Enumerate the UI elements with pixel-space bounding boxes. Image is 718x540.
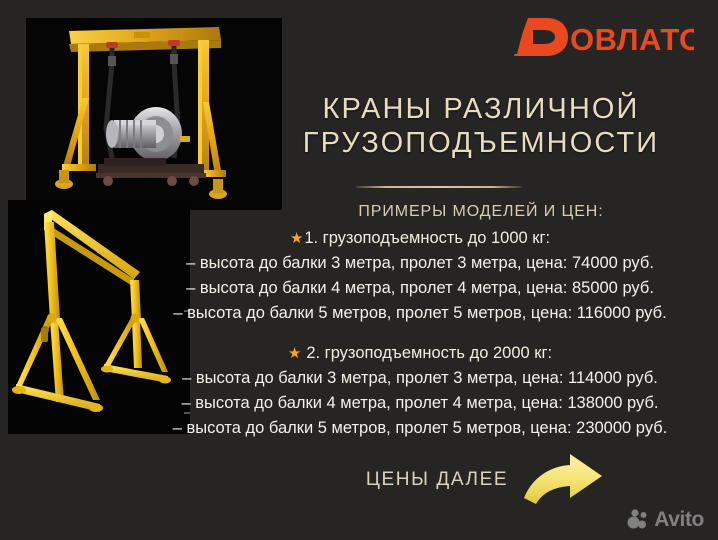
price-group-title: ★1. грузоподъемность до 1000 кг:	[130, 226, 710, 251]
brand-logo[interactable]: ОВЛАТОР Довлатор	[508, 16, 694, 58]
price-group: ★1. грузоподъемность до 1000 кг: – высот…	[130, 226, 710, 326]
headline-line-2: ГРУЗОПОДЪЕМНОСТИ	[262, 126, 700, 160]
avito-watermark: Avito	[627, 508, 704, 530]
star-icon: ★	[290, 230, 303, 247]
price-group-title: ★2. грузоподъемность до 2000 кг:	[130, 341, 710, 366]
avito-dots-icon	[627, 508, 649, 530]
price-line: – высота до балки 5 метров, пролет 5 мет…	[130, 301, 710, 326]
cta-block: ЦЕНЫ ДАЛЕЕ	[330, 452, 640, 508]
price-line: – высота до балки 4 метра, пролет 4 метр…	[130, 391, 710, 416]
star-icon: ★	[288, 345, 301, 362]
avito-label: Avito	[654, 509, 704, 530]
dovlator-logo-icon: ОВЛАТОР	[508, 16, 694, 58]
gantry-crane-with-load-photo	[26, 18, 282, 210]
price-line: – высота до балки 3 метра, пролет 3 метр…	[130, 251, 710, 276]
cta-label: ЦЕНЫ ДАЛЕЕ	[366, 469, 508, 491]
svg-text:ОВЛАТОР: ОВЛАТОР	[570, 22, 694, 57]
price-line: – высота до балки 5 метров, пролет 5 мет…	[130, 416, 710, 441]
headline-line-1: КРАНЫ РАЗЛИЧНОЙ	[262, 92, 700, 126]
subtitle: ПРИМЕРЫ МОДЕЛЕЙ И ЦЕН:	[262, 203, 700, 221]
page-title: КРАНЫ РАЗЛИЧНОЙ ГРУЗОПОДЪЕМНОСТИ	[262, 92, 700, 160]
price-line: – высота до балки 4 метра, пролет 4 метр…	[130, 276, 710, 301]
price-group: ★2. грузоподъемность до 2000 кг: – высот…	[130, 341, 710, 441]
price-line: – высота до балки 3 метра, пролет 3 метр…	[130, 366, 710, 391]
divider	[356, 186, 522, 188]
curved-arrow-right-icon	[522, 452, 604, 508]
promo-poster: ОВЛАТОР Довлатор КРАНЫ РАЗЛИЧНОЙ ГРУЗОПО…	[0, 0, 718, 540]
price-group-title-text: 2. грузоподъемность до 2000 кг:	[306, 344, 552, 362]
price-list: ★1. грузоподъемность до 1000 кг: – высот…	[130, 226, 710, 445]
price-group-title-text: 1. грузоподъемность до 1000 кг:	[304, 229, 550, 247]
